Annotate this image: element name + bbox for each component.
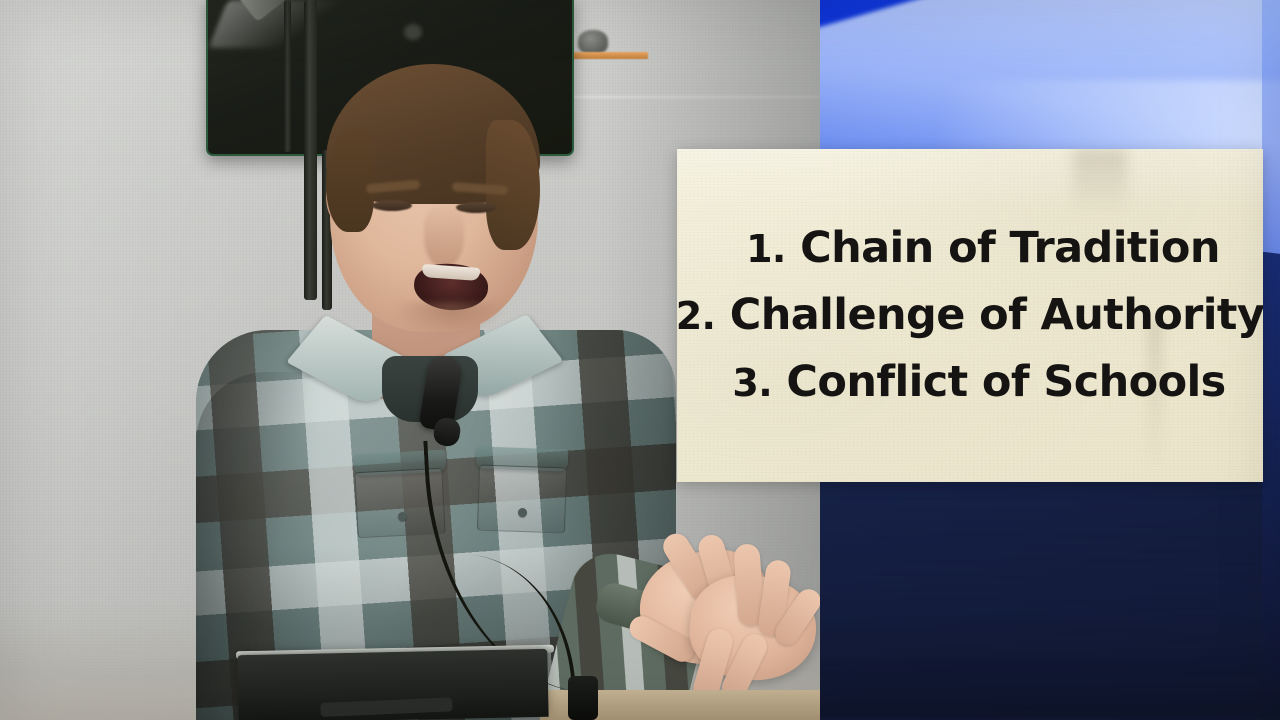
slide-point-2-label: Challenge of Authority	[730, 290, 1263, 340]
laptop-vent	[320, 697, 452, 717]
speaker-eye-left	[372, 200, 412, 211]
slide-point-2-number: 2.	[677, 294, 715, 338]
slide-point-2: 2. Challenge of Authority	[677, 293, 1263, 338]
slide-point-list: 1. Chain of Tradition 2. Challenge of Au…	[677, 149, 1263, 482]
speaker-eye-right	[456, 202, 496, 213]
slide-text-card: 1. Chain of Tradition 2. Challenge of Au…	[677, 149, 1263, 482]
slide-point-1-number: 1.	[746, 227, 786, 271]
slide-point-3-number: 3.	[732, 361, 772, 405]
microphone-stand-base	[568, 676, 598, 720]
laptop	[237, 649, 548, 720]
shirt-button	[398, 512, 407, 521]
speaker-hair-side-left	[326, 128, 374, 232]
speaker-nose	[424, 206, 464, 268]
slide-point-3-label: Conflict of Schools	[786, 357, 1225, 407]
slide-point-3: 3. Conflict of Schools	[732, 360, 1225, 405]
slide-right-edge-strip	[1262, 0, 1280, 720]
slide-point-1: 1. Chain of Tradition	[746, 226, 1220, 271]
presentation-stage: 1. Chain of Tradition 2. Challenge of Au…	[0, 0, 1280, 720]
slide-point-1-label: Chain of Tradition	[800, 223, 1220, 273]
